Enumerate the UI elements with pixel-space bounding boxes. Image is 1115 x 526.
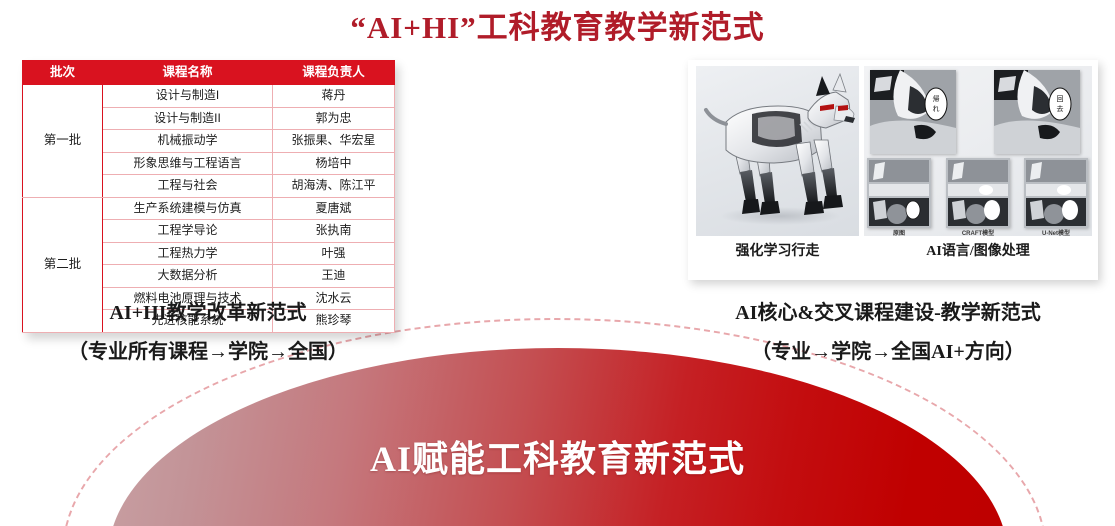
manga-label-unet: U-Net模型 [1024, 228, 1088, 236]
course-cell: 生产系统建模与仿真 [103, 197, 273, 220]
svg-text:去: 去 [1057, 104, 1064, 113]
manga-art-icon: 帰 れ [870, 70, 956, 154]
col-header-course: 课程名称 [103, 61, 273, 85]
owner-cell: 郭为忠 [273, 107, 395, 130]
manga-art-icon [1024, 158, 1088, 228]
manga-bottom-panel-2 [946, 158, 1010, 228]
robot-dog-icon [696, 66, 859, 236]
course-cell: 工程与社会 [103, 175, 273, 198]
manga-top-panel-original: 帰 れ [870, 70, 956, 154]
manga-bottom-panel-1 [867, 158, 931, 228]
owner-cell: 张振果、华宏星 [273, 130, 395, 153]
batch-cell: 第一批 [23, 85, 103, 198]
owner-cell: 张执南 [273, 220, 395, 243]
table-row: 第一批 设计与制造I 蒋丹 [23, 85, 395, 108]
left-caption-line2: （专业所有课程→学院→全国） [12, 335, 404, 364]
owner-cell: 夏唐斌 [273, 197, 395, 220]
owner-cell: 胡海涛、陈江平 [273, 175, 395, 198]
robot-dog-photo [696, 66, 859, 236]
course-table-card: 批次 课程名称 课程负责人 第一批 设计与制造I 蒋丹 设计与制造II 郭为忠 … [22, 60, 394, 333]
ai-processing-caption: AI语言/图像处理 [864, 240, 1092, 260]
owner-cell: 叶强 [273, 242, 395, 265]
owner-cell: 杨培中 [273, 152, 395, 175]
course-cell: 工程学导论 [103, 220, 273, 243]
manga-art-icon [867, 158, 931, 228]
banner-label: AI赋能工科教育新范式 [0, 430, 1115, 482]
col-header-owner: 课程负责人 [273, 61, 395, 85]
course-cell: 大数据分析 [103, 265, 273, 288]
course-cell: 形象思维与工程语言 [103, 152, 273, 175]
svg-text:れ: れ [933, 105, 940, 113]
manga-top-panel-translated: 回 去 [994, 70, 1080, 154]
robot-dog-caption: 强化学习行走 [696, 240, 859, 260]
course-cell: 机械振动学 [103, 130, 273, 153]
svg-text:回: 回 [1057, 95, 1064, 103]
ai-showcase-card: 强化学习行走 帰 [688, 60, 1098, 280]
course-cell: 工程热力学 [103, 242, 273, 265]
course-cell: 设计与制造II [103, 107, 273, 130]
svg-text:帰: 帰 [933, 94, 940, 103]
table-header-row: 批次 课程名称 课程负责人 [23, 61, 395, 85]
owner-cell: 蒋丹 [273, 85, 395, 108]
left-caption-line1: AI+HI教学改革新范式 [22, 296, 394, 325]
right-caption-line1: AI核心&交叉课程建设-教学新范式 [678, 296, 1098, 325]
manga-art-icon: 回 去 [994, 70, 1080, 154]
owner-cell: 王迪 [273, 265, 395, 288]
manga-label-original: 原图 [867, 228, 931, 236]
course-cell: 设计与制造I [103, 85, 273, 108]
col-header-batch: 批次 [23, 61, 103, 85]
manga-label-craft: CRAFT模型 [946, 228, 1010, 236]
slide-canvas: AI赋能工科教育新范式 “AI+HI”工科教育教学新范式 批次 课程名称 课程负… [0, 0, 1115, 526]
manga-art-icon [946, 158, 1010, 228]
table-row: 第二批 生产系统建模与仿真 夏唐斌 [23, 197, 395, 220]
right-caption-line2: （专业→学院→全国AI+方向） [678, 335, 1098, 364]
course-table: 批次 课程名称 课程负责人 第一批 设计与制造I 蒋丹 设计与制造II 郭为忠 … [22, 60, 395, 333]
manga-bottom-panel-3 [1024, 158, 1088, 228]
manga-samples-photo: 帰 れ [864, 66, 1092, 236]
page-title: “AI+HI”工科教育教学新范式 [0, 2, 1115, 47]
